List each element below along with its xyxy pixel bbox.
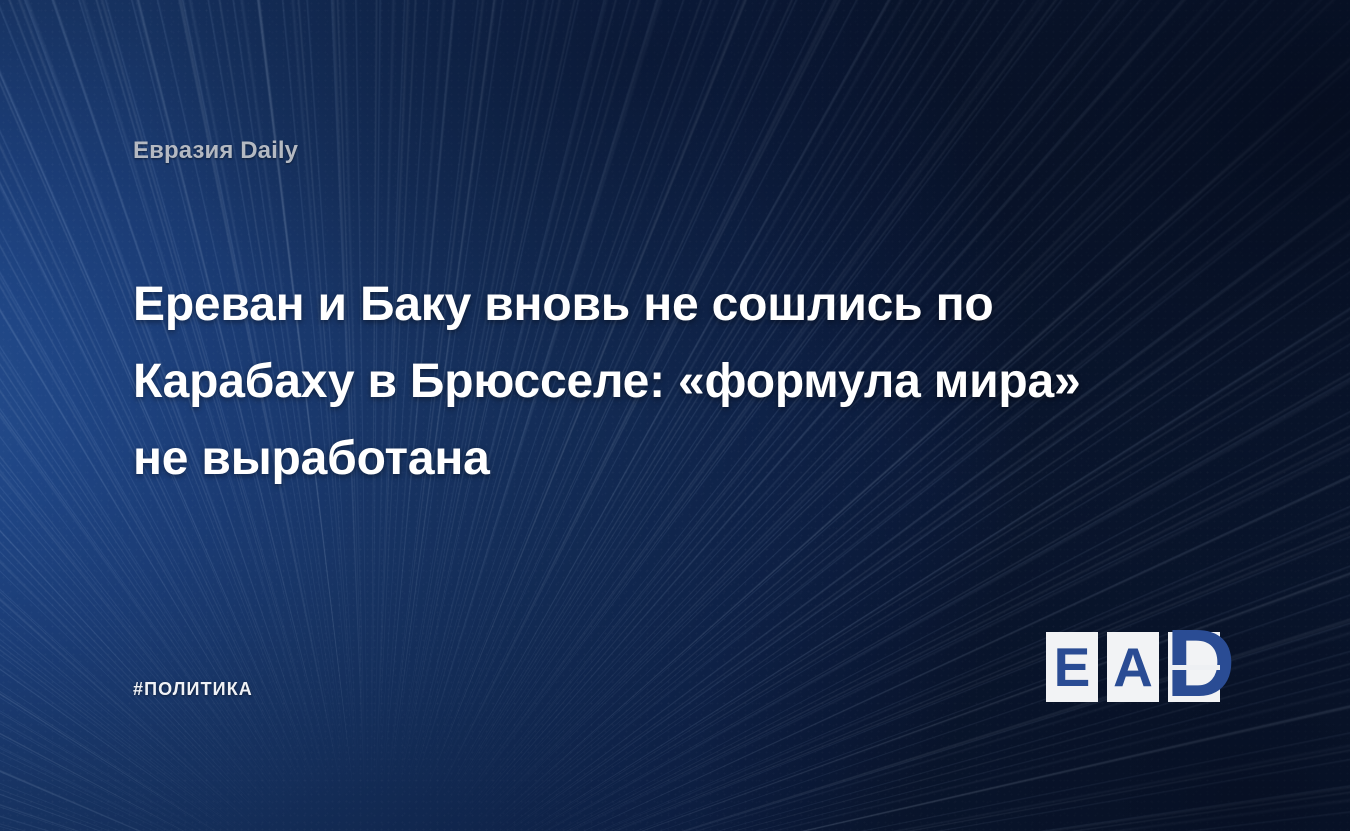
card-content: Евразия Daily Ереван и Баку вновь не сош… xyxy=(0,0,1350,831)
ead-logo-letter-a: A xyxy=(1107,632,1159,702)
ead-logo: E A D xyxy=(1046,632,1222,702)
ead-logo-seam xyxy=(1168,665,1220,670)
page-title: Ереван и Баку вновь не сошлись по Караба… xyxy=(133,266,1113,497)
ead-logo-letter-e: E xyxy=(1046,632,1098,702)
news-share-card: Евразия Daily Ереван и Баку вновь не сош… xyxy=(0,0,1350,831)
category-tag: #ПОЛИТИКА xyxy=(133,679,253,700)
brand-name: Евразия Daily xyxy=(133,137,298,165)
